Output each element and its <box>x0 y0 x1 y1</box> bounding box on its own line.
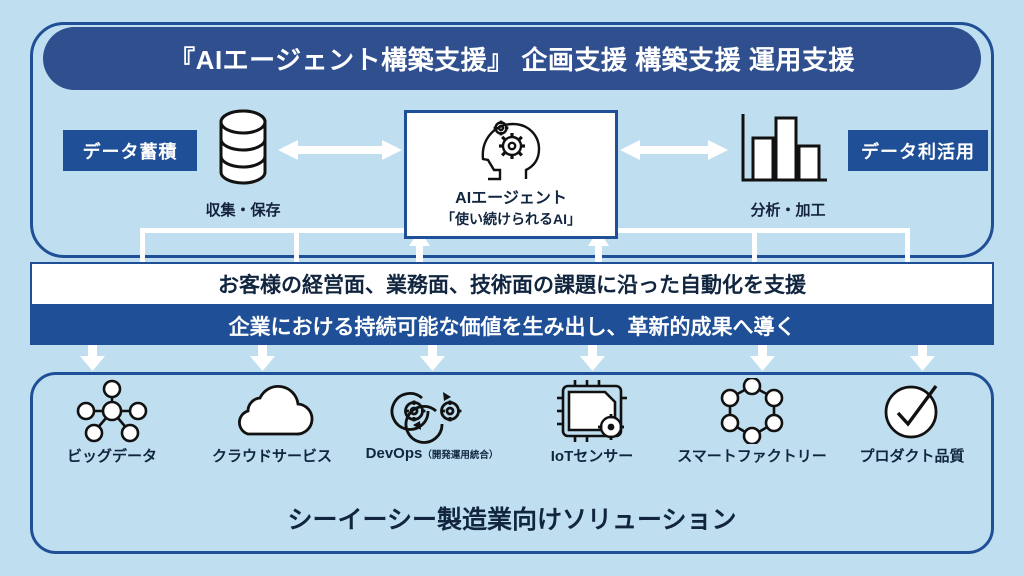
solution-item-devops[interactable]: DevOps（開発運用統合） <box>352 378 512 488</box>
badge-data-utilization: データ利活用 <box>848 130 988 171</box>
solution-item-product-quality[interactable]: プロダクト品質 <box>832 378 992 488</box>
database-group: 収集・保存 <box>188 108 298 220</box>
solution-item-iot[interactable]: IoTセンサー <box>512 378 672 488</box>
ai-agent-subtitle: 「使い続けられるAI」 <box>441 209 581 229</box>
check-circle-icon <box>874 378 950 444</box>
footer-caption: シーイーシー製造業向けソリューション <box>0 500 1024 536</box>
ai-agent-title: AIエージェント <box>455 184 567 208</box>
solution-label-text: IoTセンサー <box>551 448 634 465</box>
solution-item-smart-factory[interactable]: スマートファクトリー <box>672 378 832 488</box>
banner-blue: 企業における持続可能な価値を生み出し、革新的成果へ導く <box>30 306 994 345</box>
solution-item-cloud[interactable]: クラウドサービス <box>192 378 352 488</box>
solution-label-text: クラウドサービス <box>212 448 332 465</box>
solutions-row: ビッグデータ クラウドサービス <box>32 378 992 488</box>
banner-white: お客様の経営面、業務面、技術面の課題に沿った自動化を支援 <box>30 262 994 306</box>
solution-label: IoTセンサー <box>551 445 634 466</box>
ai-agent-box: AIエージェント 「使い続けられるAI」 <box>404 110 618 239</box>
chart-caption: 分析・加工 <box>723 199 853 220</box>
header-title: 『AIエージェント構築支援』 企画支援 構築支援 運用支援 <box>169 40 855 77</box>
diagram-canvas: 『AIエージェント構築支援』 企画支援 構築支援 運用支援 データ蓄積 データ利… <box>0 0 1024 576</box>
solution-label-text: スマートファクトリー <box>677 448 827 465</box>
solution-label: ビッグデータ <box>67 445 157 466</box>
database-caption: 収集・保存 <box>188 199 298 220</box>
solution-label-text: ビッグデータ <box>67 448 157 465</box>
bar-chart-icon <box>723 108 853 192</box>
solution-label: プロダクト品質 <box>859 445 964 466</box>
solution-label-sub: （開発運用統合） <box>422 450 498 461</box>
banner-blue-text: 企業における持続可能な価値を生み出し、革新的成果へ導く <box>229 311 796 341</box>
arrow-ai-to-chart <box>618 137 730 163</box>
badge-data-accumulation: データ蓄積 <box>63 130 197 171</box>
banner-group: お客様の経営面、業務面、技術面の課題に沿った自動化を支援 企業における持続可能な… <box>30 262 994 345</box>
solution-label-text: DevOps <box>366 445 423 462</box>
solution-label: DevOps（開発運用統合） <box>366 445 499 462</box>
chart-group: 分析・加工 <box>723 108 853 220</box>
banner-white-text: お客様の経営面、業務面、技術面の課題に沿った自動化を支援 <box>218 269 806 299</box>
solution-label: クラウドサービス <box>212 445 332 466</box>
database-cylinder-icon <box>188 108 298 192</box>
header-banner: 『AIエージェント構築支援』 企画支援 構築支援 運用支援 <box>43 27 981 90</box>
solution-label: スマートファクトリー <box>677 445 827 466</box>
network-nodes-icon <box>71 378 153 444</box>
devops-loop-icon <box>380 378 484 444</box>
hexagon-ring-icon <box>711 378 793 444</box>
badge-left-label: データ蓄積 <box>83 138 178 164</box>
cloud-icon <box>226 378 318 444</box>
solution-label-text: プロダクト品質 <box>859 448 964 465</box>
head-with-gears-icon <box>468 117 554 183</box>
down-arrows-row <box>30 344 994 372</box>
badge-right-label: データ利活用 <box>861 138 975 164</box>
solution-item-big-data[interactable]: ビッグデータ <box>32 378 192 488</box>
chip-sensor-icon <box>553 378 631 444</box>
